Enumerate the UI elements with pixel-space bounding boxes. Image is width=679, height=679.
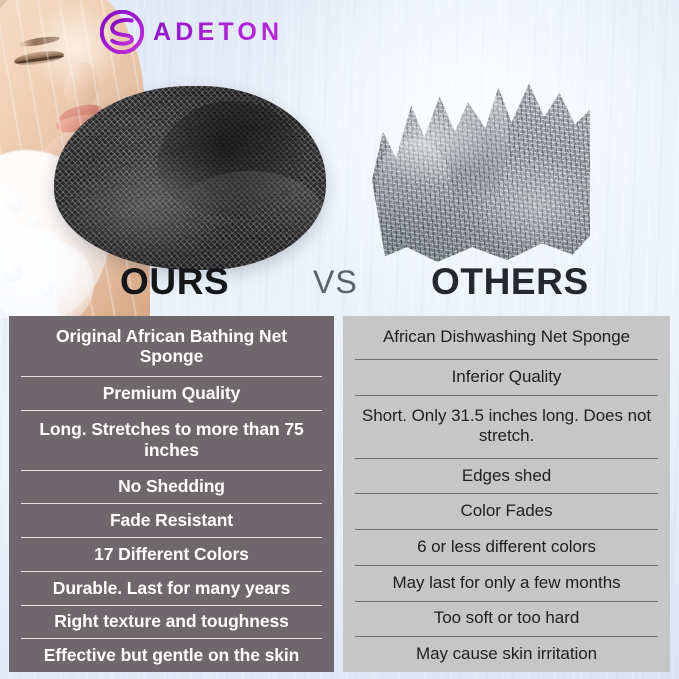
comparison-row: Original African Bathing Net Sponge bbox=[9, 316, 334, 376]
comparison-row: Premium Quality bbox=[9, 376, 334, 410]
product-image-ours bbox=[54, 86, 326, 270]
comparison-row: Right texture and toughness bbox=[9, 605, 334, 639]
comparison-row: Short. Only 31.5 inches long. Does not s… bbox=[343, 395, 670, 458]
comparison-row: African Dishwashing Net Sponge bbox=[343, 316, 670, 359]
comparison-row: Long. Stretches to more than 75 inches bbox=[9, 410, 334, 470]
brand-logo: ADETON bbox=[100, 10, 283, 54]
comparison-panel-ours: Original African Bathing Net SpongePremi… bbox=[9, 316, 334, 672]
comparison-row: Durable. Last for many years bbox=[9, 571, 334, 605]
heading-ours: OURS bbox=[120, 263, 229, 300]
foam-bubble bbox=[6, 196, 23, 213]
comparison-row: Color Fades bbox=[343, 493, 670, 529]
foam-bubble bbox=[2, 262, 23, 283]
comparison-row: No Shedding bbox=[9, 470, 334, 504]
sponge-shading bbox=[54, 86, 326, 270]
comparison-row: 17 Different Colors bbox=[9, 537, 334, 571]
product-comparison-infographic: ADETON OURS VS OTHERS Original African B… bbox=[0, 0, 679, 679]
comparison-row: Inferior Quality bbox=[343, 359, 670, 395]
foam-bubble bbox=[40, 282, 54, 296]
comparison-row: Fade Resistant bbox=[9, 503, 334, 537]
comparison-row: Too soft or too hard bbox=[343, 601, 670, 637]
adeton-leaf-s-logo-icon bbox=[100, 10, 144, 54]
foam-bubble bbox=[28, 214, 40, 226]
comparison-row: 6 or less different colors bbox=[343, 529, 670, 565]
brand-name: ADETON bbox=[153, 20, 283, 45]
comparison-row: May cause skin irritation bbox=[343, 636, 670, 672]
comparison-row: Edges shed bbox=[343, 458, 670, 494]
heading-others: OTHERS bbox=[431, 263, 589, 300]
comparison-row: May last for only a few months bbox=[343, 565, 670, 601]
heading-vs: VS bbox=[313, 266, 358, 298]
comparison-row: Effective but gentle on the skin bbox=[9, 638, 334, 672]
comparison-panel-others: African Dishwashing Net SpongeInferior Q… bbox=[343, 316, 670, 672]
